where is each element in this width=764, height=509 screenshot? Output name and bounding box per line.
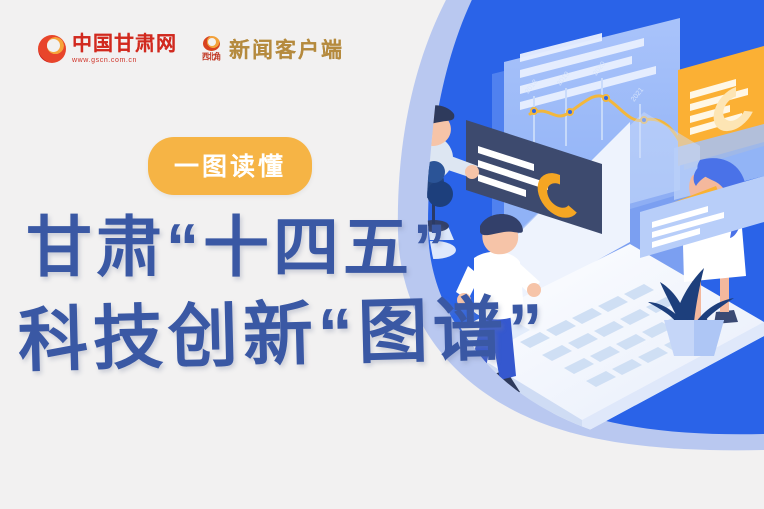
poster-canvas: 2018 2019 2020 2021: [0, 0, 764, 509]
gscn-logo-name: 中国甘肃网: [72, 34, 177, 54]
gscn-logo[interactable]: 中国甘肃网 www.gscn.com.cn: [38, 34, 177, 64]
xibeijiao-icon: 西北角: [199, 36, 223, 62]
page-title: 甘肃“十四五” 科技创新“图谱”: [26, 214, 626, 376]
xibeijiao-seal-label: 西北角: [202, 51, 220, 64]
flame-swirl-icon: [38, 35, 66, 63]
news-client-logo[interactable]: 西北角 新闻客户端: [199, 34, 344, 64]
gscn-logo-url: www.gscn.com.cn: [72, 57, 177, 64]
headline-line-2: 科技创新“图谱”: [17, 291, 627, 376]
news-client-title: 新闻客户端: [229, 34, 344, 64]
headline-line-1: 甘肃“十四五”: [26, 214, 626, 280]
read-one-image-badge[interactable]: 一图读懂: [148, 137, 312, 195]
swirl-icon: [203, 36, 220, 51]
site-header: 中国甘肃网 www.gscn.com.cn 西北角 新闻客户端: [38, 34, 344, 64]
